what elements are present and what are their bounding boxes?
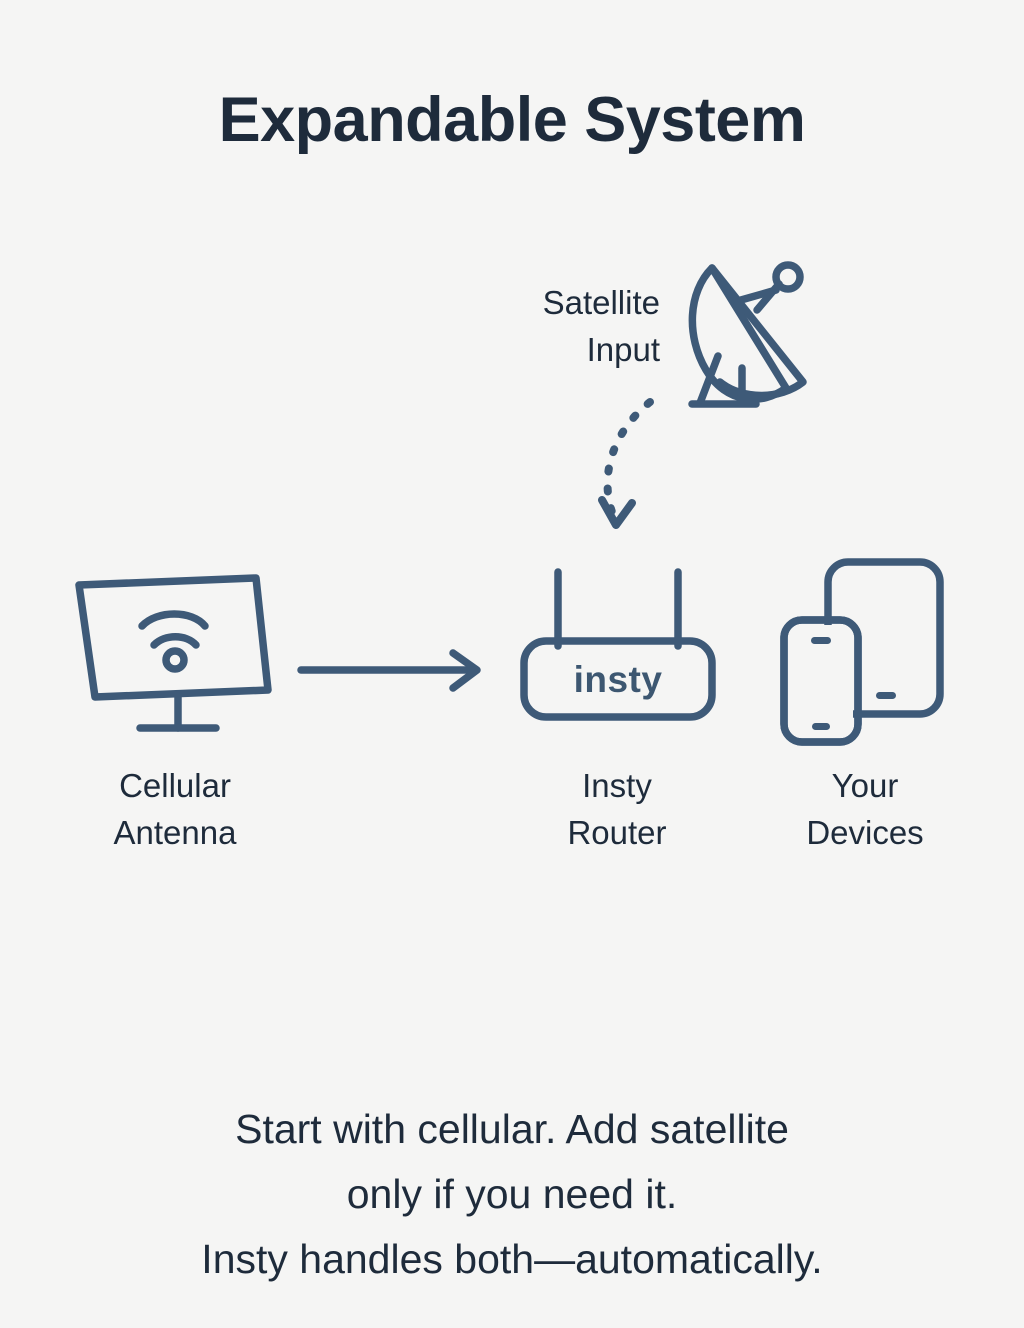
solid-arrow-head bbox=[453, 653, 477, 688]
phone-home-slot bbox=[812, 723, 830, 730]
satellite-dish-bowl-edge bbox=[712, 268, 803, 396]
phone-body-outline bbox=[784, 620, 858, 742]
footer-line-2: only if you need it. bbox=[62, 1162, 962, 1227]
phone-body bbox=[784, 620, 858, 742]
devices-label-line2: Devices bbox=[745, 810, 985, 857]
dashed-arrow-head bbox=[602, 500, 632, 525]
satellite-dish-icon bbox=[692, 265, 803, 404]
phone-speaker-slot bbox=[811, 637, 831, 644]
footer-caption: Start with cellular. Add satellite only … bbox=[62, 1097, 962, 1291]
phone-and-tablet-icon bbox=[784, 562, 940, 742]
satellite-lnb-arm-upper bbox=[757, 284, 779, 310]
label-your-devices: Your Devices bbox=[745, 763, 985, 857]
satellite-lnb-arm-lower bbox=[741, 290, 776, 300]
satellite-label-line2: Input bbox=[587, 331, 660, 368]
phone-slots bbox=[811, 637, 831, 730]
wifi-arc-outer bbox=[142, 614, 205, 626]
solid-arrow-icon bbox=[301, 653, 477, 688]
satellite-label-line1: Satellite bbox=[543, 284, 660, 321]
router-label-line1: Insty bbox=[582, 767, 652, 804]
label-cellular-antenna: Cellular Antenna bbox=[45, 763, 305, 857]
device-slots bbox=[811, 637, 896, 730]
devices-label-line1: Your bbox=[832, 767, 899, 804]
wifi-dot bbox=[166, 651, 184, 669]
tablet-home-slot bbox=[876, 692, 896, 699]
router-label-line2: Router bbox=[490, 810, 744, 857]
wifi-arc-inner bbox=[154, 637, 196, 645]
footer-line-1: Start with cellular. Add satellite bbox=[62, 1097, 962, 1162]
phone-speaker-slot-top bbox=[811, 637, 831, 644]
antenna-label-line1: Cellular bbox=[119, 767, 231, 804]
insty-wordmark: insty bbox=[525, 659, 711, 701]
antenna-label-line2: Antenna bbox=[45, 810, 305, 857]
phone-home-slot-bottom bbox=[812, 723, 830, 730]
phone-overlap-mask bbox=[789, 625, 853, 737]
satellite-input-label: Satellite Input bbox=[420, 280, 660, 374]
satellite-leg-left bbox=[700, 356, 718, 403]
footer-line-3: Insty handles both—automatically. bbox=[62, 1227, 962, 1292]
dashed-curved-arrow-icon bbox=[602, 402, 650, 525]
label-insty-router: Insty Router bbox=[490, 763, 744, 857]
satellite-lnb-head bbox=[776, 265, 800, 289]
page-title: Expandable System bbox=[0, 86, 1024, 155]
tablet-body bbox=[828, 562, 940, 714]
satellite-dish-bowl-left bbox=[692, 268, 786, 399]
dashed-arrow-path bbox=[608, 402, 650, 512]
cellular-antenna-panel-icon bbox=[79, 578, 268, 728]
poster-canvas: Expandable System Satellite Input bbox=[0, 0, 1024, 1328]
antenna-panel bbox=[79, 578, 268, 697]
